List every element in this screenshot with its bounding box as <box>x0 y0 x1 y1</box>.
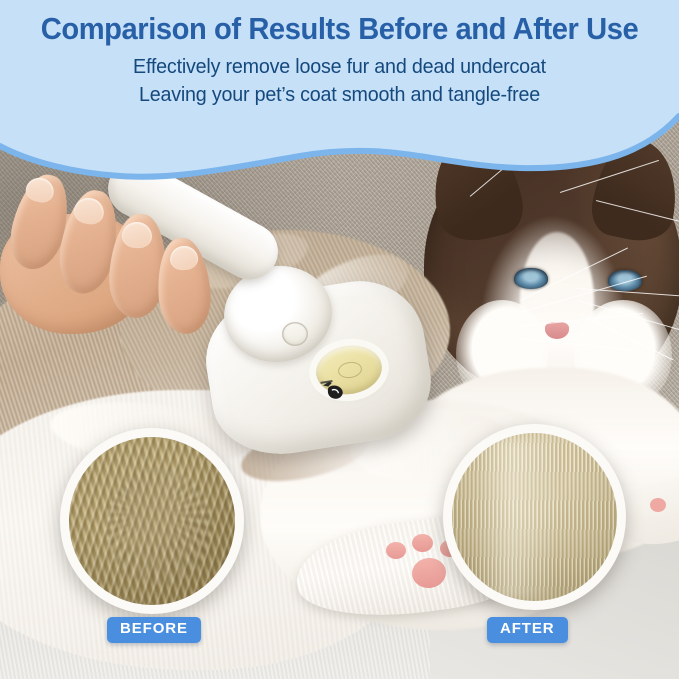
before-badge: BEFORE <box>107 617 201 643</box>
brush-indicator-icon <box>282 322 308 346</box>
product-comparison-image: BEFORE AFTER Comparison of Results Befor… <box>0 0 679 679</box>
before-fur-closeup <box>69 437 235 605</box>
after-fur-closeup <box>452 433 617 601</box>
after-badge: AFTER <box>487 617 568 643</box>
rear-paw-pad <box>650 498 666 512</box>
header-wave-shape <box>0 0 679 200</box>
before-zoom-circle <box>60 428 244 614</box>
brand-logo-icon <box>316 376 350 406</box>
cat-eye-left <box>514 268 548 289</box>
paw-toe-pad-2 <box>412 534 433 552</box>
after-zoom-circle <box>443 424 626 610</box>
cat-eye-right <box>608 270 642 291</box>
paw-toe-pad-1 <box>386 542 406 559</box>
header-banner <box>0 0 679 200</box>
